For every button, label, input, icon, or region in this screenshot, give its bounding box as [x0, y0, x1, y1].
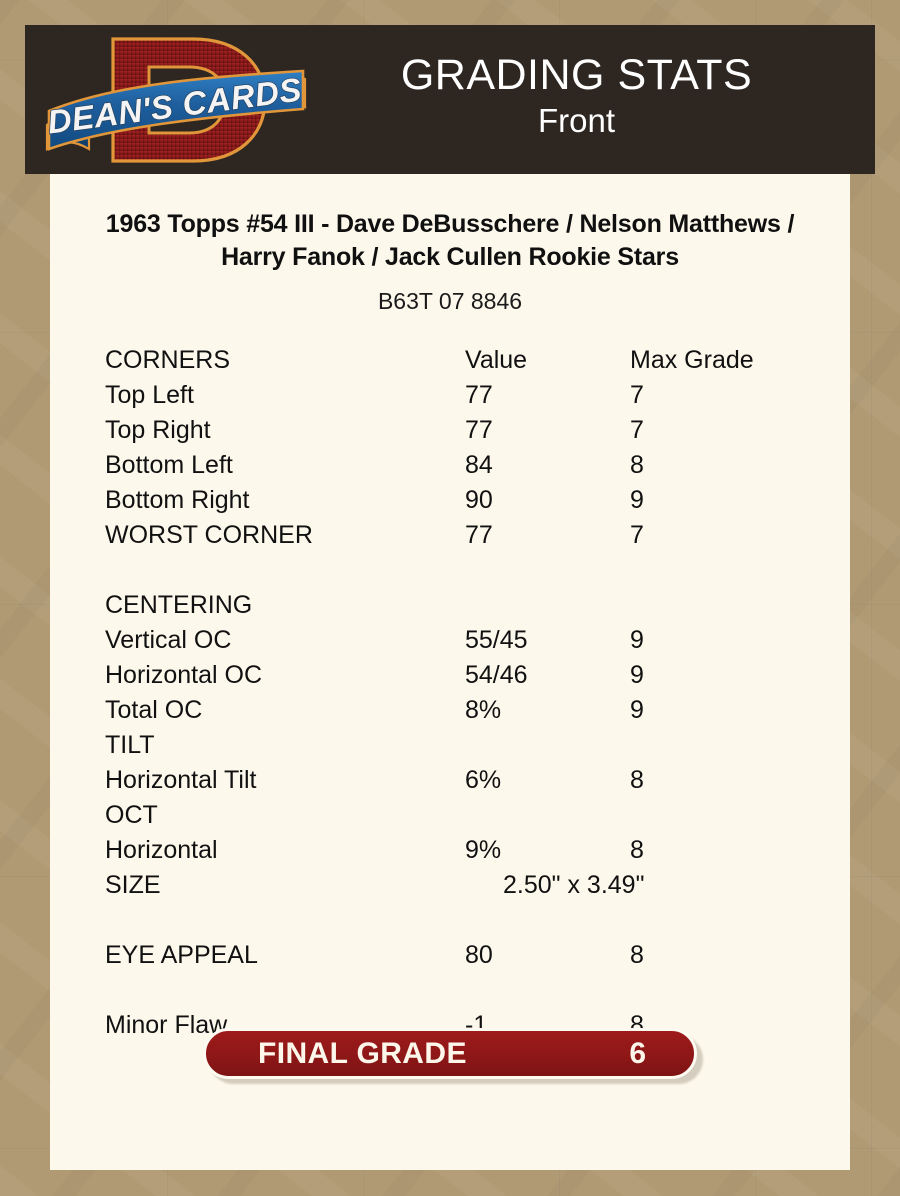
row-grade: 8	[630, 448, 795, 483]
content-panel: 1963 Topps #54 III - Dave DeBusschere / …	[50, 174, 850, 1170]
page-subtitle: Front	[308, 100, 845, 141]
page-title: GRADING STATS	[308, 53, 845, 98]
card-serial-number: B63T 07 8846	[50, 288, 850, 315]
final-grade-section: FINAL GRADE 6	[203, 1028, 703, 1084]
row-label: Bottom Right	[105, 483, 465, 518]
section-heading-corners: CORNERS	[105, 343, 465, 378]
row-grade: 7	[630, 413, 795, 448]
row-label: Horizontal	[105, 833, 465, 868]
row-value: 55/45	[465, 623, 630, 658]
table-row: Bottom Right 90 9	[105, 483, 795, 518]
table-row: Horizontal 9% 8	[105, 833, 795, 868]
column-header-value: Value	[465, 343, 630, 378]
row-grade: 8	[630, 833, 795, 868]
row-label: Total OC	[105, 693, 465, 728]
row-label: WORST CORNER	[105, 518, 465, 553]
row-label: Top Left	[105, 378, 465, 413]
table-row: Bottom Left 84 8	[105, 448, 795, 483]
table-row-tilt-heading: TILT	[105, 728, 795, 763]
deans-cards-logo[interactable]: DEAN'S CARDS	[43, 27, 308, 172]
section-heading-centering: CENTERING	[105, 588, 465, 623]
row-value: 90	[465, 483, 630, 518]
column-header-max-grade: Max Grade	[630, 343, 795, 378]
table-row-centering-heading: CENTERING	[105, 588, 795, 623]
final-grade-label: FINAL GRADE	[258, 1037, 467, 1071]
grading-stats-table: CORNERS Value Max Grade Top Left 77 7 To…	[105, 343, 795, 1043]
table-row: Total OC 8% 9	[105, 693, 795, 728]
row-grade: 9	[630, 658, 795, 693]
row-label: Bottom Left	[105, 448, 465, 483]
table-row: Horizontal Tilt 6% 8	[105, 763, 795, 798]
section-heading-tilt: TILT	[105, 728, 465, 763]
row-value: 54/46	[465, 658, 630, 693]
row-grade: 8	[630, 938, 795, 973]
card-title: 1963 Topps #54 III - Dave DeBusschere / …	[105, 174, 795, 275]
table-row: Vertical OC 55/45 9	[105, 623, 795, 658]
spacer	[105, 553, 795, 588]
table-row-eye-appeal: EYE APPEAL 80 8	[105, 938, 795, 973]
spacer	[105, 903, 795, 938]
row-label: EYE APPEAL	[105, 938, 465, 973]
section-heading-size: SIZE	[105, 868, 465, 903]
table-row-size: SIZE 2.50" x 3.49"	[105, 868, 795, 903]
row-label: Horizontal Tilt	[105, 763, 465, 798]
section-heading-oct: OCT	[105, 798, 465, 833]
final-grade-bar[interactable]: FINAL GRADE 6	[203, 1028, 697, 1079]
spacer	[105, 973, 795, 1008]
row-value: 80	[465, 938, 630, 973]
row-label: Vertical OC	[105, 623, 465, 658]
table-row: Top Left 77 7	[105, 378, 795, 413]
table-row: Top Right 77 7	[105, 413, 795, 448]
final-grade-value: 6	[629, 1037, 646, 1071]
row-label: Horizontal OC	[105, 658, 465, 693]
row-value: 84	[465, 448, 630, 483]
row-value: 77	[465, 413, 630, 448]
row-label: Top Right	[105, 413, 465, 448]
row-value: 77	[465, 518, 630, 553]
row-value: 77	[465, 378, 630, 413]
row-value: 9%	[465, 833, 630, 868]
row-grade: 9	[630, 623, 795, 658]
table-row-oct-heading: OCT	[105, 798, 795, 833]
header-titles: GRADING STATS Front	[308, 53, 875, 145]
table-row-corners-heading: CORNERS Value Max Grade	[105, 343, 795, 378]
row-grade: 7	[630, 518, 795, 553]
row-grade: 9	[630, 693, 795, 728]
row-value: 6%	[465, 763, 630, 798]
size-value: 2.50" x 3.49"	[465, 868, 795, 903]
table-row: Horizontal OC 54/46 9	[105, 658, 795, 693]
header-bar: DEAN'S CARDS GRADING STATS Front	[25, 25, 875, 174]
row-grade: 8	[630, 763, 795, 798]
row-value: 8%	[465, 693, 630, 728]
row-grade: 7	[630, 378, 795, 413]
table-row-worst-corner: WORST CORNER 77 7	[105, 518, 795, 553]
row-grade: 9	[630, 483, 795, 518]
